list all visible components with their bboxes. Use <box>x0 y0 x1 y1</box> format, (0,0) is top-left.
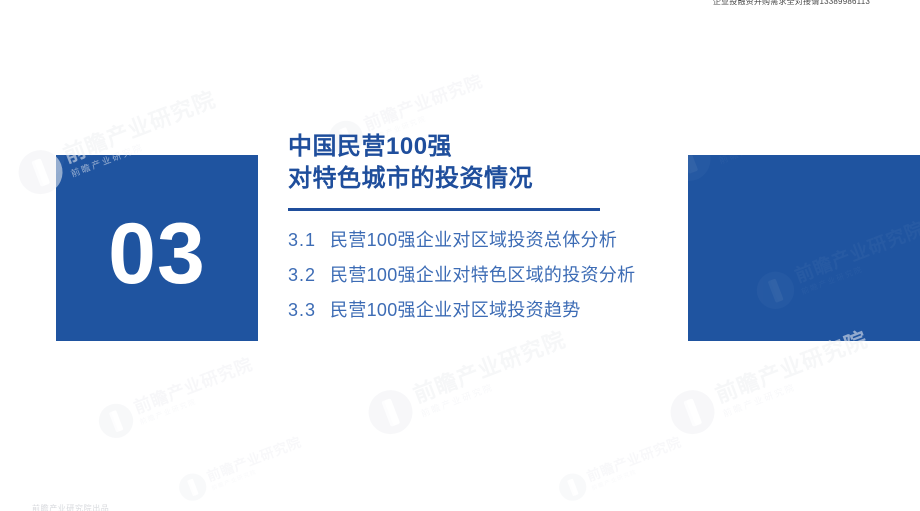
watermark-subtitle: 前瞻产业研究院 <box>591 450 686 491</box>
watermark-subtitle: 前瞻产业研究院 <box>139 374 259 426</box>
page-title: 中国民营100强 对特色城市的投资情况 <box>288 131 635 195</box>
watermark-text: 前瞻产业研究院 前瞻产业研究院 <box>410 328 573 418</box>
qianzhan-logo-icon <box>751 266 799 314</box>
watermark-brand: 前瞻产业研究院 <box>132 355 255 416</box>
watermark-brand: 前瞻产业研究院 <box>410 328 568 406</box>
watermark-brand: 前瞻产业研究院 <box>205 435 303 484</box>
toc-list: 3.1 民营100强企业对区域投资总体分析 3.2 民营100强企业对特色区域的… <box>288 231 635 319</box>
qianzhan-logo-icon <box>688 155 717 188</box>
qianzhan-logo-icon <box>56 155 71 186</box>
qianzhan-logo-icon <box>362 384 419 441</box>
toc-item[interactable]: 3.3 民营100强企业对区域投资趋势 <box>288 301 635 319</box>
watermark-text: 前瞻产业研究院 前瞻产业研究院 <box>712 328 875 418</box>
toc-item-label: 民营100强企业对特色区域的投资分析 <box>330 266 635 284</box>
qianzhan-logo-icon <box>555 469 590 504</box>
watermark: 前瞻产业研究院 前瞻产业研究院 <box>362 324 575 441</box>
qianzhan-logo-icon <box>664 384 721 441</box>
watermark-subtitle: 前瞻产业研究院 <box>420 352 574 418</box>
toc-item-label: 民营100强企业对区域投资总体分析 <box>330 231 635 249</box>
section-number: 03 <box>108 211 206 297</box>
qianzhan-logo-icon <box>175 469 210 504</box>
watermark-text: 前瞻产业研究院 前瞻产业研究院 <box>792 219 920 296</box>
watermark: 前瞻产业研究院 前瞻产业研究院 <box>664 324 877 441</box>
watermark-subtitle: 前瞻产业研究院 <box>722 352 876 418</box>
section-number-panel: 前瞻产业研究院 前瞻产业研究院 03 <box>56 155 258 341</box>
title-underline <box>288 208 600 211</box>
watermark-text: 前瞻产业研究院 前瞻产业研究院 <box>585 435 686 491</box>
toc-item[interactable]: 3.2 民营100强企业对特色区域的投资分析 <box>288 266 635 284</box>
watermark-text: 前瞻产业研究院 前瞻产业研究院 <box>132 355 259 425</box>
toc-item-number: 3.3 <box>288 301 330 319</box>
watermark-text: 前瞻产业研究院 前瞻产业研究院 <box>62 155 225 163</box>
watermark-subtitle: 前瞻产业研究院 <box>72 155 226 163</box>
watermark-brand: 前瞻产业研究院 <box>585 435 683 484</box>
toc-item-label: 民营100强企业对区域投资趋势 <box>330 301 635 319</box>
toc-item-number: 3.1 <box>288 231 330 249</box>
watermark-text: 前瞻产业研究院 前瞻产业研究院 <box>205 435 306 491</box>
footer-note: 前瞻产业研究院出品 <box>32 503 109 511</box>
watermark-subtitle: 前瞻产业研究院 <box>718 155 872 165</box>
watermark: 前瞻产业研究院 前瞻产业研究院 <box>94 352 260 443</box>
qianzhan-logo-icon <box>94 399 138 443</box>
header-contact-line: 企业投融资并购需求全对接请13389986113 <box>713 0 870 7</box>
toc-item[interactable]: 3.1 民营100强企业对区域投资总体分析 <box>288 231 635 249</box>
section-content: 中国民营100强 对特色城市的投资情况 3.1 民营100强企业对区域投资总体分… <box>288 131 635 336</box>
slide-canvas: 前瞻产业研究院 前瞻产业研究院 前瞻产业研究院 前瞻产业研究院 前瞻产业研究院 … <box>0 0 920 511</box>
watermark: 前瞻产业研究院 前瞻产业研究院 <box>56 155 227 186</box>
watermark: 前瞻产业研究院 前瞻产业研究院 <box>555 432 687 504</box>
watermark: 前瞻产业研究院 前瞻产业研究院 <box>175 432 307 504</box>
watermark-text: 前瞻产业研究院 前瞻产业研究院 <box>708 155 871 165</box>
watermark-brand: 前瞻产业研究院 <box>362 72 485 133</box>
watermark: 前瞻产业研究院 前瞻产业研究院 <box>751 215 920 314</box>
toc-item-number: 3.2 <box>288 266 330 284</box>
watermark-subtitle: 前瞻产业研究院 <box>211 450 306 491</box>
decorative-blue-panel: 前瞻产业研究院 前瞻产业研究院 前瞻产业研究院 前瞻产业研究院 <box>688 155 920 341</box>
watermark: 前瞻产业研究院 前瞻产业研究院 <box>688 155 873 188</box>
